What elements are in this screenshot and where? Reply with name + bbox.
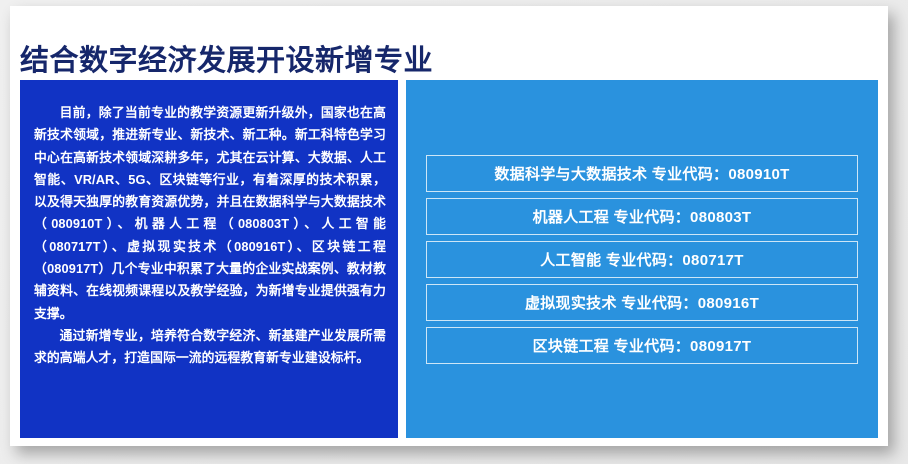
list-item[interactable]: 数据科学与大数据技术 专业代码：080910T [426,155,858,192]
slide-background: 结合数字经济发展开设新增专业 目前，除了当前专业的教学资源更新升级外，国家也在高… [0,0,908,464]
description-paragraph-1: 目前，除了当前专业的教学资源更新升级外，国家也在高新技术领域，推进新专业、新技术… [34,102,386,325]
page-title: 结合数字经济发展开设新增专业 [20,41,433,81]
description-paragraph-2: 通过新增专业，培养符合数字经济、新基建产业发展所需求的高端人才，打造国际一流的远… [34,325,386,370]
left-description-panel: 目前，除了当前专业的教学资源更新升级外，国家也在高新技术领域，推进新专业、新技术… [20,80,398,438]
list-item[interactable]: 虚拟现实技术 专业代码：080916T [426,284,858,321]
description-text-block: 目前，除了当前专业的教学资源更新升级外，国家也在高新技术领域，推进新专业、新技术… [34,102,386,370]
major-list: 数据科学与大数据技术 专业代码：080910T 机器人工程 专业代码：08080… [406,80,878,438]
list-item[interactable]: 区块链工程 专业代码：080917T [426,327,858,364]
list-item[interactable]: 人工智能 专业代码：080717T [426,241,858,278]
slide-card: 结合数字经济发展开设新增专业 目前，除了当前专业的教学资源更新升级外，国家也在高… [10,6,888,446]
right-major-panel: 数据科学与大数据技术 专业代码：080910T 机器人工程 专业代码：08080… [406,80,878,438]
list-item[interactable]: 机器人工程 专业代码：080803T [426,198,858,235]
